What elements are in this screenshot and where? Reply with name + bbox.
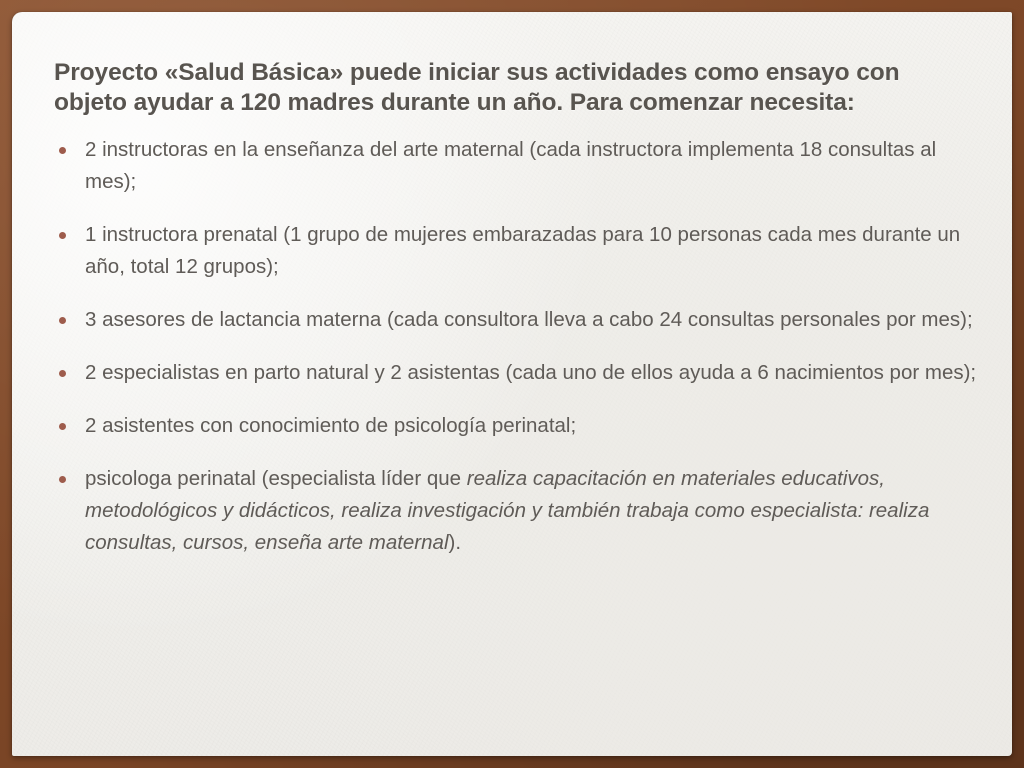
bullet-dot-icon <box>59 370 66 377</box>
slide-content: Proyecto «Salud Básica» puede iniciar su… <box>54 58 980 559</box>
list-item: 3 asesores de lactancia materna (cada co… <box>54 304 980 336</box>
bullet-dot-icon <box>59 423 66 430</box>
slide-frame-border: Proyecto «Salud Básica» puede iniciar su… <box>0 0 1024 768</box>
bullet-dot-icon <box>59 147 66 154</box>
list-item-text: 1 instructora prenatal (1 grupo de mujer… <box>85 219 980 283</box>
list-item-text: 2 especialistas en parto natural y 2 asi… <box>85 357 980 389</box>
bullet-dot-icon <box>59 476 66 483</box>
slide-title: Proyecto «Salud Básica» puede iniciar su… <box>54 58 979 118</box>
slide-card: Proyecto «Salud Básica» puede iniciar su… <box>12 12 1012 756</box>
bullet-dot-icon <box>59 317 66 324</box>
list-item-text: 3 asesores de lactancia materna (cada co… <box>85 304 980 336</box>
bullet-dot-icon <box>59 232 66 239</box>
list-item-text: 2 instructoras en la enseñanza del arte … <box>85 134 980 198</box>
list-item-text-plain-prefix: psicologa perinatal (especialista líder … <box>85 467 467 490</box>
list-item-text-plain-suffix: ). <box>449 531 462 554</box>
list-item: 2 instructoras en la enseñanza del arte … <box>54 134 980 198</box>
bullet-list: 2 instructoras en la enseñanza del arte … <box>54 134 980 559</box>
list-item: 2 especialistas en parto natural y 2 asi… <box>54 357 980 389</box>
list-item-text: psicologa perinatal (especialista líder … <box>85 463 980 559</box>
list-item: 2 asistentes con conocimiento de psicolo… <box>54 410 980 442</box>
list-item: psicologa perinatal (especialista líder … <box>54 463 980 559</box>
list-item-text: 2 asistentes con conocimiento de psicolo… <box>85 410 980 442</box>
list-item: 1 instructora prenatal (1 grupo de mujer… <box>54 219 980 283</box>
